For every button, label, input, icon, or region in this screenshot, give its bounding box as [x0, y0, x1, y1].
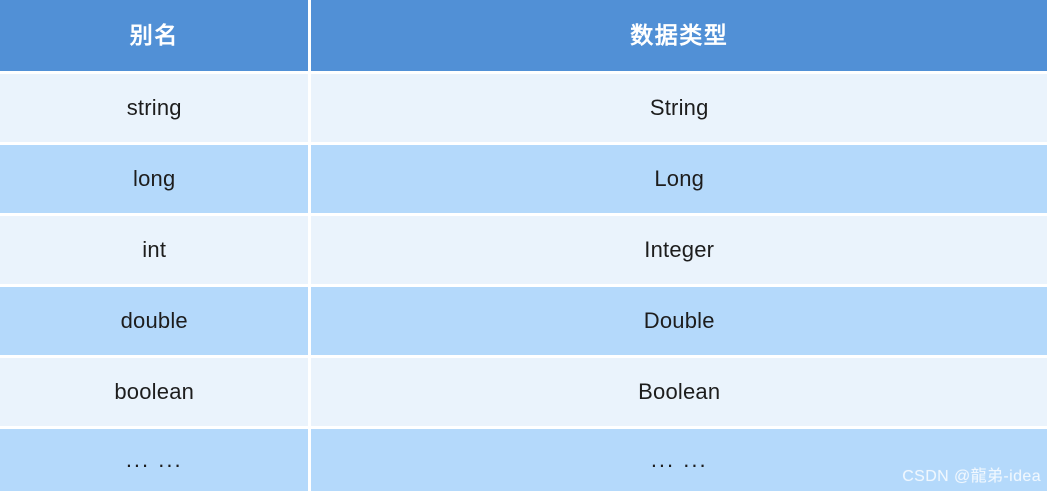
cell-datatype: Integer [311, 216, 1047, 284]
table-row: long Long [0, 145, 1047, 213]
table-row: string String [0, 74, 1047, 142]
column-header-datatype: 数据类型 [311, 0, 1047, 71]
cell-alias: ... ... [0, 429, 308, 491]
cell-datatype: Long [311, 145, 1047, 213]
cell-alias: boolean [0, 358, 308, 426]
cell-datatype: Double [311, 287, 1047, 355]
cell-alias: double [0, 287, 308, 355]
table-row: ... ... ... ... [0, 429, 1047, 491]
cell-alias: int [0, 216, 308, 284]
cell-alias: long [0, 145, 308, 213]
alias-datatype-table-root: 别名 数据类型 string String long Long int Inte… [0, 0, 1053, 499]
table-row: int Integer [0, 216, 1047, 284]
table-row: boolean Boolean [0, 358, 1047, 426]
alias-datatype-table: 别名 数据类型 string String long Long int Inte… [0, 0, 1050, 494]
cell-datatype: String [311, 74, 1047, 142]
column-header-alias: 别名 [0, 0, 308, 71]
cell-datatype: Boolean [311, 358, 1047, 426]
cell-datatype: ... ... [311, 429, 1047, 491]
cell-alias: string [0, 74, 308, 142]
table-header-row: 别名 数据类型 [0, 0, 1047, 71]
table-row: double Double [0, 287, 1047, 355]
